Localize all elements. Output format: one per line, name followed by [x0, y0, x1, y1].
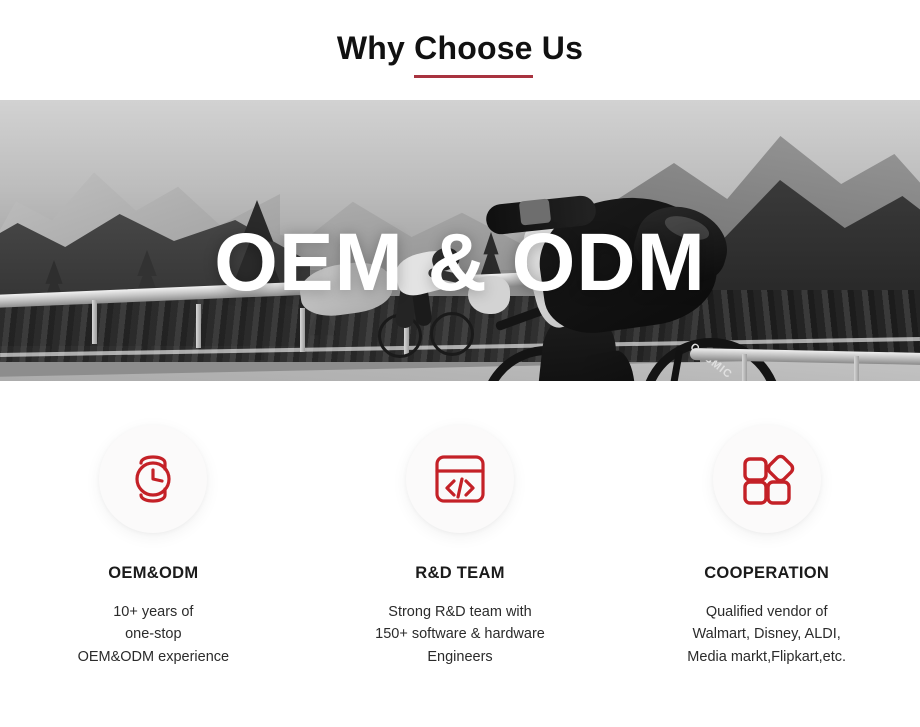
- feature-description-line: Engineers: [375, 646, 545, 668]
- feature-item-oem-odm: OEM&ODM 10+ years of one-stop OEM&ODM ex…: [0, 425, 307, 668]
- feature-description-line: 10+ years of: [78, 601, 230, 623]
- feature-description-line: Qualified vendor of: [687, 601, 846, 623]
- feature-item-rd-team: R&D TEAM Strong R&D team with 150+ softw…: [307, 425, 614, 668]
- feature-description-line: one-stop: [78, 623, 230, 645]
- guardrail-post: [196, 304, 201, 348]
- feature-item-cooperation: COOPERATION Qualified vendor of Walmart,…: [613, 425, 920, 668]
- guardrail-post: [300, 308, 305, 352]
- icon-badge: [99, 425, 207, 533]
- guardrail-post: [92, 300, 97, 344]
- code-window-icon: [429, 449, 491, 509]
- feature-title: COOPERATION: [704, 564, 829, 583]
- guardrail-post: [854, 356, 859, 381]
- feature-description-line: Walmart, Disney, ALDI,: [687, 623, 846, 645]
- guardrail-post: [742, 354, 747, 381]
- icon-badge: [406, 425, 514, 533]
- feature-description: 10+ years of one-stop OEM&ODM experience: [78, 601, 230, 668]
- feature-columns: OEM&ODM 10+ years of one-stop OEM&ODM ex…: [0, 381, 920, 668]
- feature-description-line: Media markt,Flipkart,etc.: [687, 646, 846, 668]
- icon-badge: [713, 425, 821, 533]
- title-prefix: Why: [337, 30, 414, 66]
- hero-banner: OEM & ODM: [0, 100, 920, 381]
- feature-title: OEM&ODM: [108, 564, 198, 583]
- feature-description-line: OEM&ODM experience: [78, 646, 230, 668]
- hero-overlay-title: OEM & ODM: [0, 222, 920, 304]
- feature-description: Strong R&D team with 150+ software & har…: [375, 601, 545, 668]
- title-suffix: Us: [533, 30, 583, 66]
- title-underlined-word: Choose: [414, 30, 533, 66]
- section-header: Why Choose Us: [0, 0, 920, 100]
- why-choose-us-section: Why Choose Us: [0, 0, 920, 727]
- background-bicycle-wheel: [430, 312, 474, 356]
- feature-description-line: 150+ software & hardware: [375, 623, 545, 645]
- page-title: Why Choose Us: [337, 32, 583, 68]
- wristwatch-clock-icon: [123, 447, 183, 511]
- feature-description-line: Strong R&D team with: [375, 601, 545, 623]
- feature-title: R&D TEAM: [415, 564, 504, 583]
- feature-description: Qualified vendor of Walmart, Disney, ALD…: [687, 601, 846, 668]
- blocks-cooperation-icon: [736, 449, 798, 509]
